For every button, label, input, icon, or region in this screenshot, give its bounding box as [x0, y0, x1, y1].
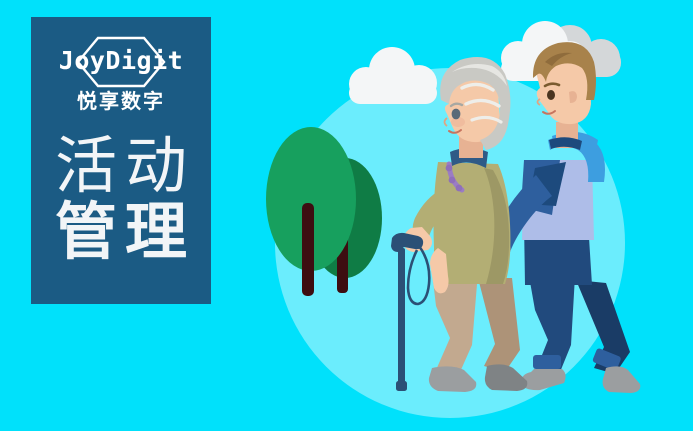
title-panel: JoyDigit 悦享数字 活动 管理 — [31, 17, 211, 304]
page-title: 活动 管理 — [47, 137, 195, 263]
page-title-line-2: 管理 — [47, 203, 195, 263]
necklace-bead — [449, 177, 456, 184]
man-jeans-cuff-front — [533, 355, 561, 369]
page-title-line-1: 活动 — [47, 137, 195, 197]
brand-wordmark: JoyDigit — [46, 45, 196, 77]
cane-shaft — [398, 248, 405, 386]
woman-eye — [452, 109, 461, 120]
necklace-bead — [456, 185, 463, 192]
brand-subtitle: 悦享数字 — [77, 89, 165, 115]
brand-logo: JoyDigit — [46, 39, 196, 85]
poster-canvas: JoyDigit 悦享数字 活动 管理 — [0, 0, 693, 431]
cane-tip — [396, 381, 407, 391]
necklace-bead — [446, 165, 453, 172]
man-eye — [547, 90, 555, 100]
